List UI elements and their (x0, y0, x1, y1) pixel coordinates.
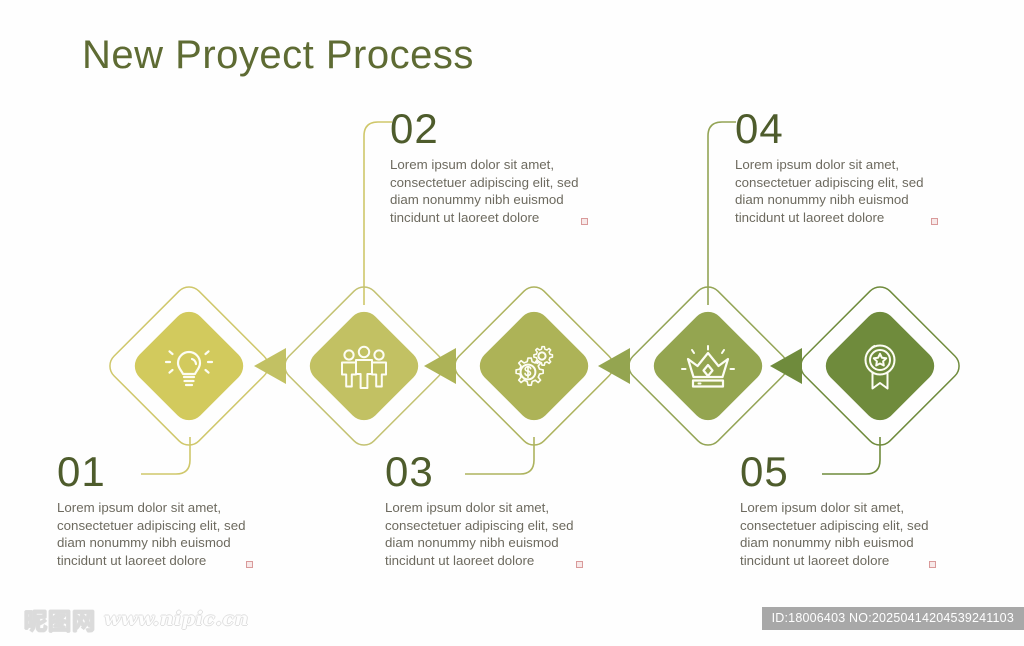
step-body-05: Lorem ipsum dolor sit amet, consectetuer… (740, 499, 936, 569)
accent-marker-01 (246, 561, 253, 568)
connector-line-02 (364, 122, 392, 305)
diamond-outline-group (104, 281, 965, 451)
accent-marker-05 (929, 561, 936, 568)
accent-marker-03 (576, 561, 583, 568)
id-badge: ID:18006403 NO:20250414204539241103 (762, 607, 1024, 630)
step-body-03: Lorem ipsum dolor sit amet, consectetuer… (385, 499, 581, 569)
diamond-outline-04 (623, 281, 793, 451)
accent-marker-04 (931, 218, 938, 225)
step-number-04: 04 (735, 108, 950, 150)
connector-line-04 (708, 122, 736, 305)
gear-dollar-icon (516, 347, 552, 385)
step-block-03: 03 Lorem ipsum dolor sit amet, consectet… (385, 451, 600, 569)
arrow-01-to-02 (254, 348, 286, 384)
watermark-site-url: www.nipic.cn (104, 608, 249, 630)
diamond-fill-02[interactable] (303, 305, 425, 427)
arrow-04-to-05 (770, 348, 802, 384)
diamond-outline-02 (279, 281, 449, 451)
diamond-fill-01[interactable] (128, 305, 250, 427)
step-block-02: 02 Lorem ipsum dolor sit amet, consectet… (390, 108, 605, 226)
step-block-04: 04 Lorem ipsum dolor sit amet, consectet… (735, 108, 950, 226)
arrow-03-to-04 (598, 348, 630, 384)
step-number-02: 02 (390, 108, 605, 150)
award-medal-icon (866, 346, 895, 389)
crown-icon (682, 346, 734, 387)
diamond-outline-05 (795, 281, 965, 451)
step-block-05: 05 Lorem ipsum dolor sit amet, consectet… (740, 451, 955, 569)
team-people-icon (342, 347, 386, 388)
step-body-02: Lorem ipsum dolor sit amet, consectetuer… (390, 156, 586, 226)
step-block-01: 01 Lorem ipsum dolor sit amet, consectet… (57, 451, 272, 569)
watermark-site-name: 昵图网 (24, 602, 96, 636)
step-number-01: 01 (57, 451, 272, 493)
lightbulb-icon (166, 351, 212, 385)
arrow-02-to-03 (424, 348, 456, 384)
diamond-fill-03[interactable] (473, 305, 595, 427)
step-body-04: Lorem ipsum dolor sit amet, consectetuer… (735, 156, 931, 226)
watermark: 昵图网 www.nipic.cn (24, 602, 249, 636)
accent-marker-02 (581, 218, 588, 225)
diamond-outline-03 (449, 281, 619, 451)
page-title: New Proyect Process (82, 33, 474, 78)
diamond-outline-01 (104, 281, 274, 451)
step-number-03: 03 (385, 451, 600, 493)
diamond-fill-05[interactable] (819, 305, 941, 427)
arrow-group (254, 348, 802, 384)
diamond-fill-04[interactable] (647, 305, 769, 427)
step-number-05: 05 (740, 451, 955, 493)
infographic-canvas: New Proyect Process (0, 0, 1024, 646)
step-body-01: Lorem ipsum dolor sit amet, consectetuer… (57, 499, 253, 569)
diamond-fill-group (128, 305, 941, 427)
